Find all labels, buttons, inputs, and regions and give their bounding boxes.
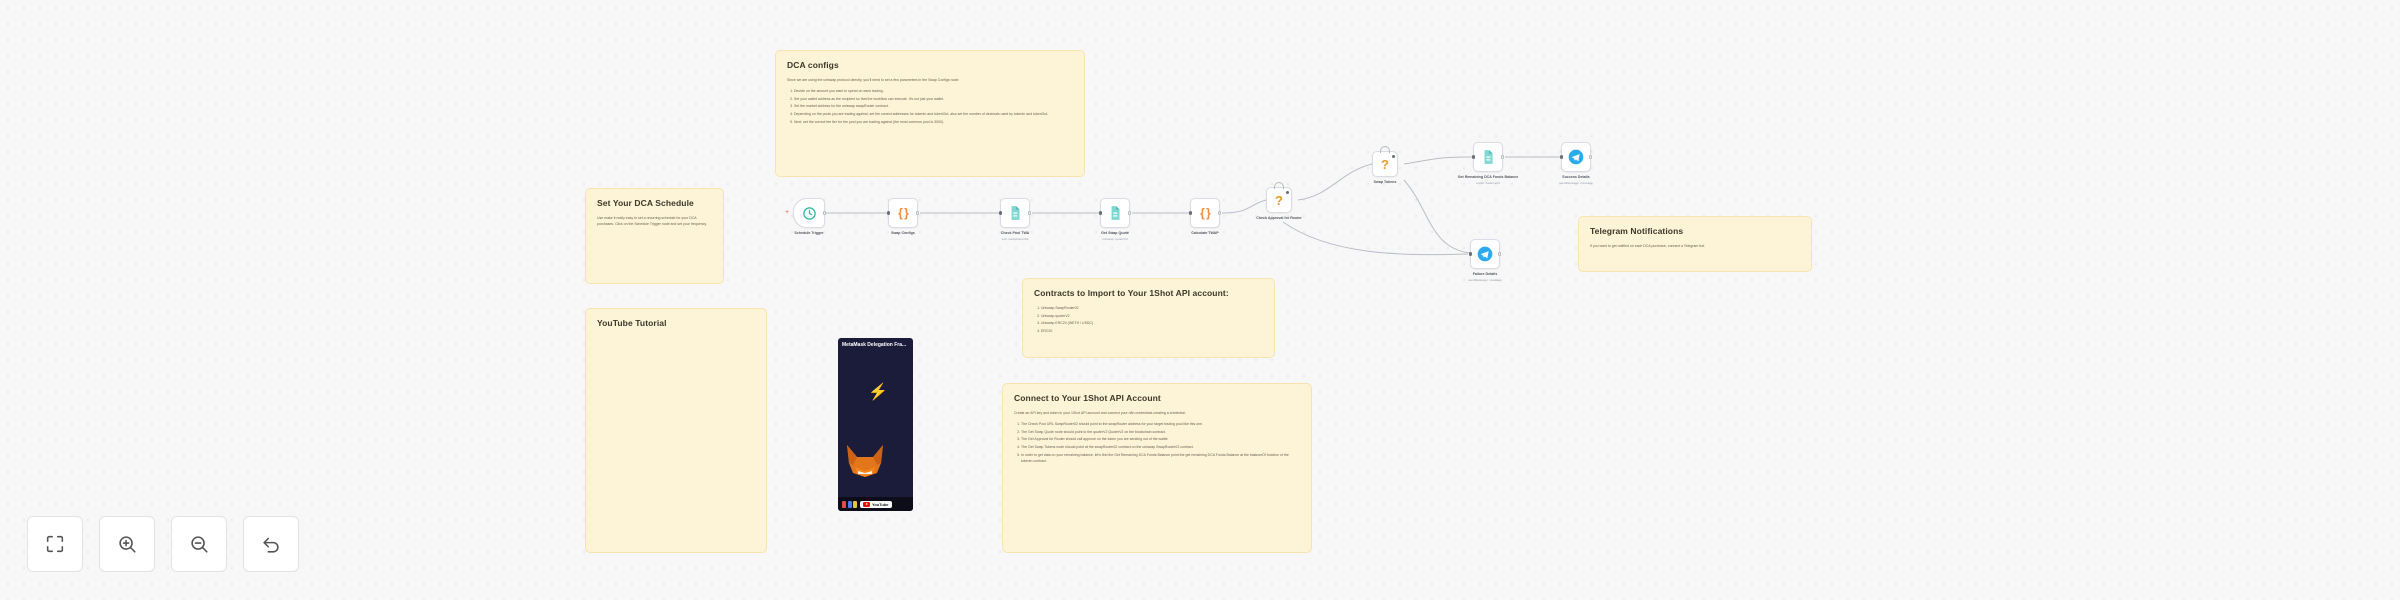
node-check-pool-tick[interactable]: Check Pool TWA sub: swapRouter02 xyxy=(1000,198,1030,228)
list-item: Set the market address for the uniswap s… xyxy=(794,103,1073,109)
sticky-body: If you want to get notified on each DCA … xyxy=(1590,243,1800,249)
node-success-details[interactable]: Success Details sendMessage: message xyxy=(1561,142,1591,172)
input-port[interactable] xyxy=(999,211,1003,215)
node-label: Calculate TWAP xyxy=(1191,231,1218,236)
list-item: Decide on the amount you want to spend o… xyxy=(794,88,1073,94)
node-get-remaining-dca-funds-balance[interactable]: Get Remaining DCA Funds Balance erc20: b… xyxy=(1473,142,1503,172)
loop-arrow-icon xyxy=(1380,146,1390,153)
sticky-note-contracts-to-import[interactable]: Contracts to Import to Your 1Shot API ac… xyxy=(1022,278,1275,358)
node-label: Swap Tokens xyxy=(1374,180,1397,185)
sticky-note-telegram-notifications[interactable]: Telegram Notifications If you want to ge… xyxy=(1578,216,1812,272)
input-port[interactable] xyxy=(887,211,891,215)
node-label: Failure Details sendMessage: message xyxy=(1468,272,1502,282)
zoom-in-button[interactable] xyxy=(99,516,155,572)
output-port[interactable] xyxy=(1128,211,1132,215)
sticky-title: Telegram Notifications xyxy=(1590,226,1800,236)
clock-icon xyxy=(802,206,817,221)
node-get-swap-quote[interactable]: Get Swap Quote uniswap: quoterV2 xyxy=(1100,198,1130,228)
sticky-note-set-dca-schedule[interactable]: Set Your DCA Schedule Use make it really… xyxy=(585,188,724,284)
sticky-body: Since we are using the uniswap protocol … xyxy=(787,77,1073,83)
output-port[interactable] xyxy=(916,211,920,215)
list-item: The Get Swap Tokens node should point at… xyxy=(1021,444,1300,450)
zoom-to-fit-button[interactable] xyxy=(27,516,83,572)
input-port[interactable] xyxy=(1560,155,1564,159)
list-item: The Get Swap Quote node should point to … xyxy=(1021,429,1300,435)
question-icon: ? xyxy=(1275,193,1283,208)
input-port[interactable] xyxy=(1469,252,1473,256)
contract-icon xyxy=(1108,205,1122,221)
node-label: Get Swap Quote uniswap: quoterV2 xyxy=(1101,231,1129,241)
zoom-in-icon xyxy=(116,533,138,555)
sticky-body: Use make it really easy to set a recurri… xyxy=(597,215,712,227)
node-label: Success Details sendMessage: message xyxy=(1559,175,1593,185)
code-braces-icon: { } xyxy=(898,206,908,220)
node-label: Get Remaining DCA Funds Balance erc20: b… xyxy=(1458,175,1519,185)
node-swap-tokens[interactable]: ? Swap Tokens xyxy=(1372,151,1398,177)
output-port[interactable] xyxy=(1498,252,1502,256)
metamask-fox-icon xyxy=(843,441,887,481)
sticky-title: Set Your DCA Schedule xyxy=(597,198,712,208)
list-item[interactable]: Uniswap SwapRouter02 xyxy=(1041,305,1263,311)
node-sublabel: erc20: balanceOf xyxy=(1458,181,1519,185)
node-sublabel: sendMessage: message xyxy=(1468,278,1502,282)
input-port[interactable] xyxy=(1472,155,1476,159)
sticky-body: Create an API key and token in your 1Sho… xyxy=(1014,410,1300,416)
list-item: The Check Pool URL SwapRouter02 should p… xyxy=(1021,421,1300,427)
canvas-zoom-toolbar[interactable] xyxy=(27,516,299,572)
node-swap-configs[interactable]: { } Swap Configs xyxy=(888,198,918,228)
contract-icon xyxy=(1008,205,1022,221)
node-label: Check Approval for Router xyxy=(1256,216,1302,221)
add-node-plus-icon[interactable]: + xyxy=(785,210,789,216)
list-item[interactable]: Uniswap ERC20 (WETH / USDC) xyxy=(1041,320,1263,326)
code-braces-icon: { } xyxy=(1200,206,1210,220)
sticky-list: Decide on the amount you want to spend o… xyxy=(794,88,1073,125)
sticky-note-dca-configs[interactable]: DCA configs Since we are using the unisw… xyxy=(775,50,1085,177)
video-bottom-bar: YouTube xyxy=(838,497,913,511)
output-port[interactable] xyxy=(1218,211,1222,215)
sticky-list: Uniswap SwapRouter02 Uniswap quoterV2 Un… xyxy=(1041,305,1263,334)
zoom-to-fit-icon xyxy=(44,533,66,555)
color-chips xyxy=(842,501,857,508)
list-item[interactable]: ERC20 xyxy=(1041,328,1263,334)
list-item: Set your wallet address as the recipient… xyxy=(794,96,1073,102)
workflow-canvas[interactable]: DCA configs Since we are using the unisw… xyxy=(0,0,2400,600)
video-title: MetaMask Delegation Fra... xyxy=(842,342,909,348)
node-sublabel: uniswap: quoterV2 xyxy=(1101,237,1129,241)
lightning-bolt-icon: ⚡ xyxy=(868,382,888,402)
node-label: Check Pool TWA sub: swapRouter02 xyxy=(1001,231,1030,241)
sticky-title: DCA configs xyxy=(787,60,1073,70)
contract-icon xyxy=(1481,149,1495,165)
output-port[interactable] xyxy=(1589,155,1593,159)
youtube-badge[interactable]: YouTube xyxy=(860,501,892,508)
zoom-out-icon xyxy=(188,533,210,555)
node-failure-details[interactable]: Failure Details sendMessage: message xyxy=(1470,239,1500,269)
output-port[interactable] xyxy=(823,211,827,215)
node-schedule-trigger[interactable]: + Schedule Trigger xyxy=(793,198,825,228)
input-port[interactable] xyxy=(1099,211,1103,215)
telegram-icon xyxy=(1477,246,1493,262)
node-sublabel: sub: swapRouter02 xyxy=(1001,237,1030,241)
output-port[interactable] xyxy=(1028,211,1032,215)
sticky-note-connect-1shot-api[interactable]: Connect to Your 1Shot API Account Create… xyxy=(1002,383,1312,553)
list-item: The Get Approval for Router should call … xyxy=(1021,436,1300,442)
reset-zoom-button[interactable] xyxy=(243,516,299,572)
youtube-play-icon xyxy=(863,502,870,507)
list-item: In order to get data on your remaining b… xyxy=(1021,452,1300,464)
telegram-icon xyxy=(1568,149,1584,165)
sticky-title: Contracts to Import to Your 1Shot API ac… xyxy=(1034,288,1263,298)
question-icon: ? xyxy=(1381,157,1389,172)
node-label: Schedule Trigger xyxy=(794,231,823,236)
node-label: Swap Configs xyxy=(891,231,915,236)
list-item: Depending on the pools you are trading a… xyxy=(794,111,1073,117)
loop-arrow-icon xyxy=(1274,182,1284,189)
node-sublabel: sendMessage: message xyxy=(1559,181,1593,185)
reset-zoom-icon xyxy=(260,533,282,555)
list-item[interactable]: Uniswap quoterV2 xyxy=(1041,313,1263,319)
input-port[interactable] xyxy=(1189,211,1193,215)
list-item: Next, set the correct fee tier for the p… xyxy=(794,119,1073,125)
node-check-approval-for-router[interactable]: ? Check Approval for Router xyxy=(1266,187,1292,213)
sticky-title: YouTube Tutorial xyxy=(597,318,755,328)
node-status-badge xyxy=(1392,155,1395,158)
output-port[interactable] xyxy=(1501,155,1505,159)
node-status-badge xyxy=(1286,191,1289,194)
youtube-label: YouTube xyxy=(872,502,889,507)
node-calculate-twap[interactable]: { } Calculate TWAP xyxy=(1190,198,1220,228)
sticky-note-youtube-tutorial[interactable]: YouTube Tutorial xyxy=(585,308,767,553)
sticky-list: The Check Pool URL SwapRouter02 should p… xyxy=(1021,421,1300,464)
youtube-video-thumbnail[interactable]: MetaMask Delegation Fra... ⚡ YouTube xyxy=(838,338,913,511)
zoom-out-button[interactable] xyxy=(171,516,227,572)
sticky-title: Connect to Your 1Shot API Account xyxy=(1014,393,1300,403)
